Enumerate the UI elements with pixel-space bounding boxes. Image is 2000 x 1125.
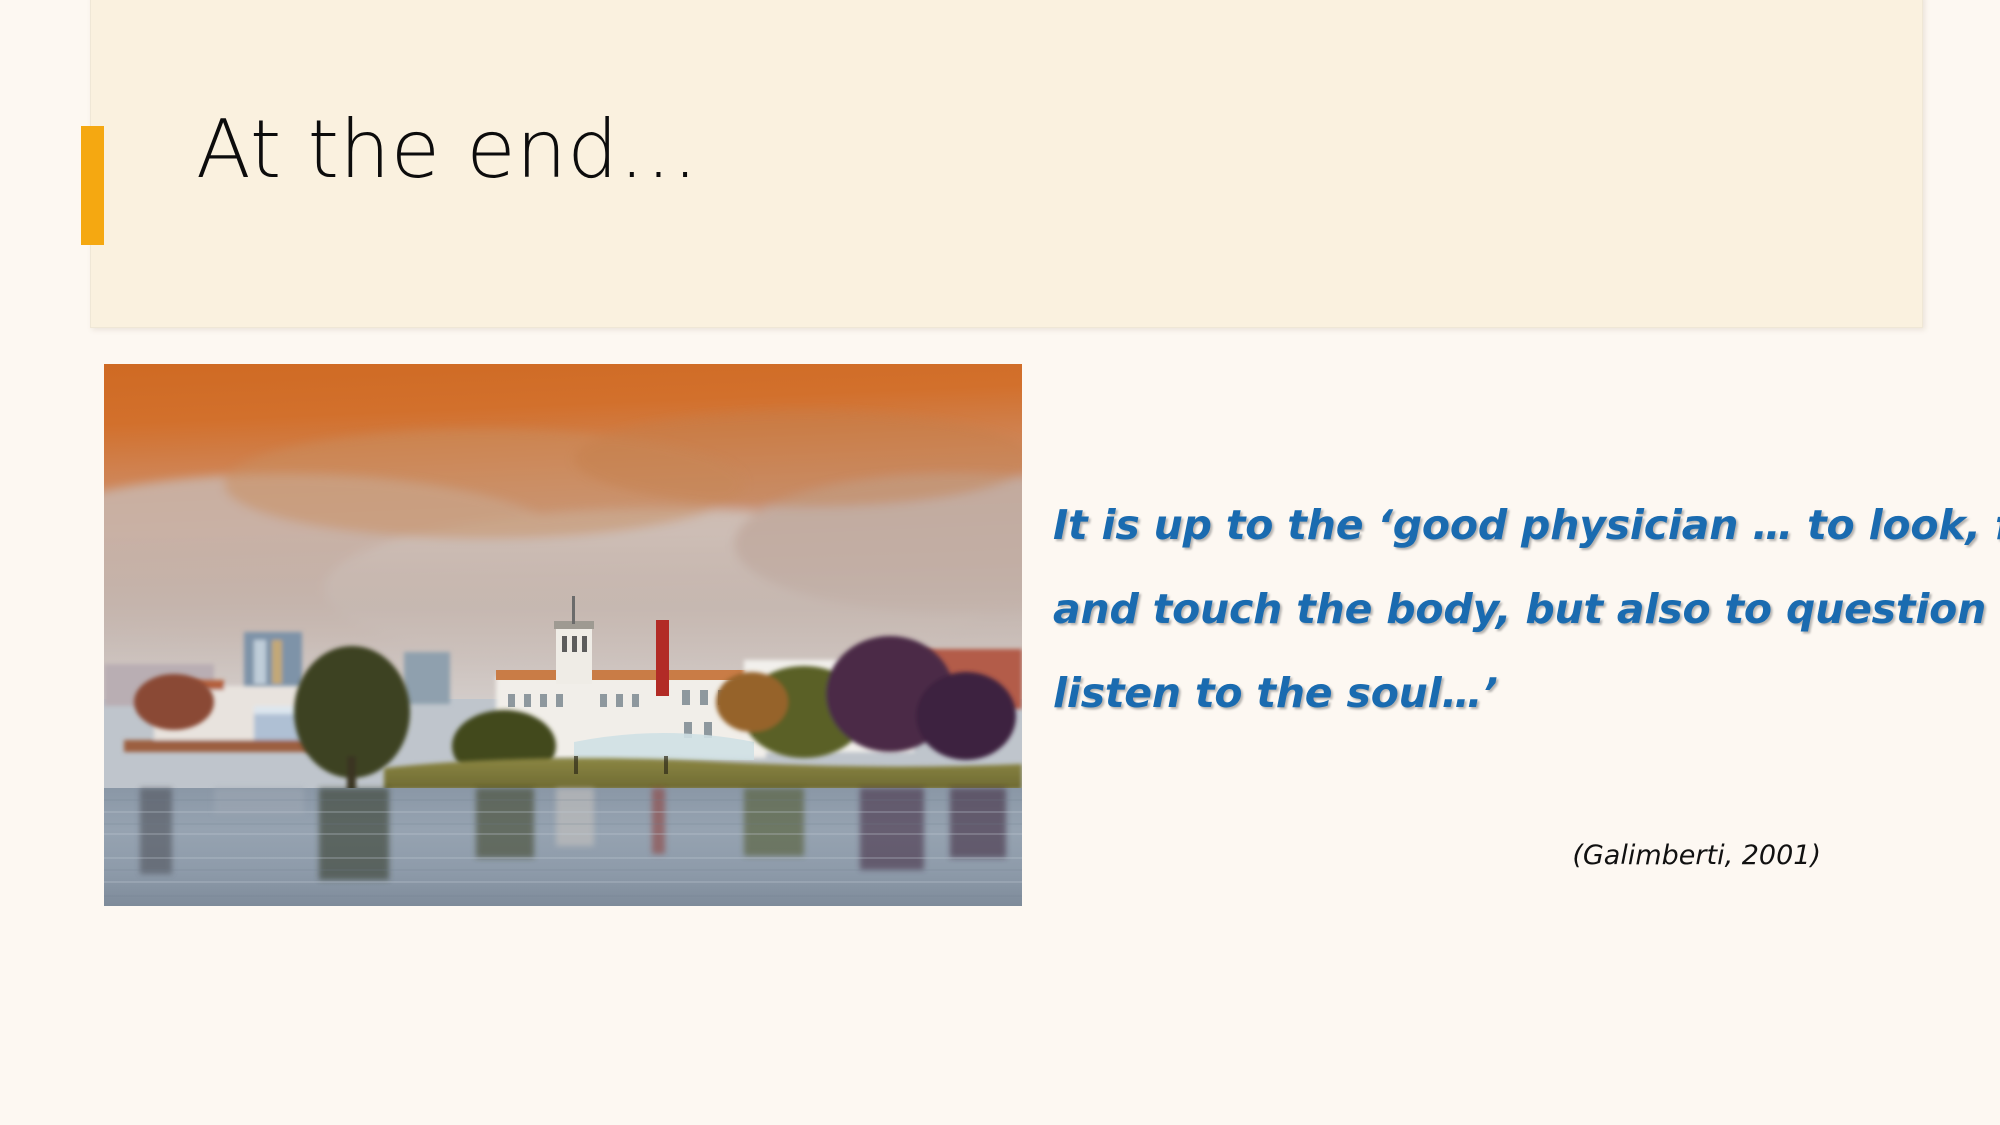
riverside-town-photo (104, 364, 1022, 906)
slide: At the end… (0, 0, 2000, 1125)
quote-citation: (Galimberti, 2001) (1053, 840, 1821, 871)
page-title: At the end… (196, 108, 699, 192)
quote-line: and touch the body, but also to question… (1053, 567, 1899, 651)
quote-line: It is up to the ‘good physician … to loo… (1053, 483, 1899, 567)
quote-line: listen to the soul…’ (1053, 651, 1899, 735)
title-accent-bar (81, 126, 104, 245)
quote-block: It is up to the ‘good physician … to loo… (1053, 483, 1899, 735)
photo-artwork (104, 364, 1022, 906)
